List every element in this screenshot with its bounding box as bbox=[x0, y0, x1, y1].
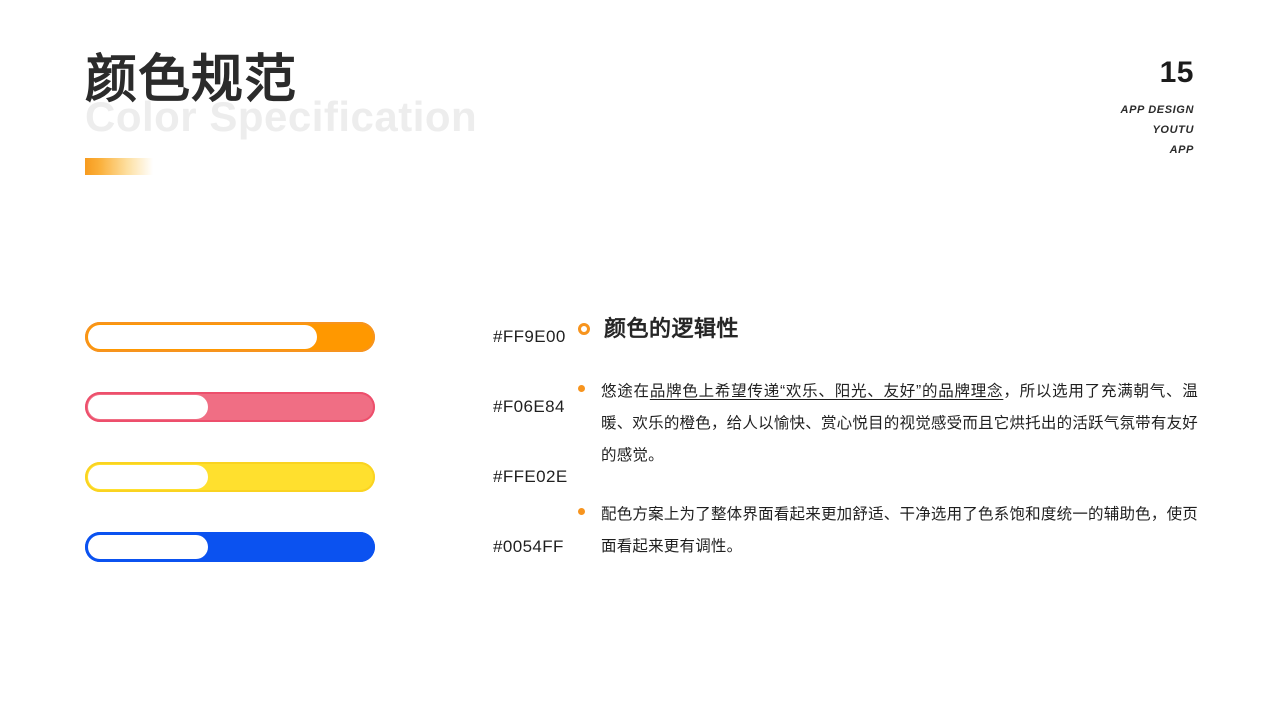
meta-line-app: APP bbox=[1121, 140, 1194, 160]
content-heading: 颜色的逻辑性 bbox=[578, 318, 1198, 340]
page-title: 颜色规范 bbox=[85, 52, 297, 109]
color-swatch-list: #FF9E00#F06E84#FFE02E#0054FF bbox=[85, 322, 568, 602]
paragraph-item: 悠途在品牌色上希望传递“欢乐、阳光、友好”的品牌理念，所以选用了充满朝气、温暖、… bbox=[578, 376, 1198, 471]
meta-line-youtu: YOUTU bbox=[1121, 120, 1194, 140]
color-bar-inner-fill bbox=[88, 535, 208, 559]
dot-bullet-icon bbox=[578, 385, 585, 392]
meta-lines: APP DESIGN YOUTU APP bbox=[1121, 100, 1194, 160]
color-bar-inner-fill bbox=[88, 395, 208, 419]
color-hex-label: #FFE02E bbox=[493, 467, 568, 487]
color-swatch-row: #0054FF bbox=[85, 532, 568, 562]
color-hex-label: #FF9E00 bbox=[493, 327, 566, 347]
color-bar[interactable] bbox=[85, 322, 375, 352]
color-bar[interactable] bbox=[85, 532, 375, 562]
color-bar-inner-fill bbox=[88, 325, 317, 349]
paragraph-text: 悠途在品牌色上希望传递“欢乐、阳光、友好”的品牌理念，所以选用了充满朝气、温暖、… bbox=[601, 376, 1198, 471]
color-swatch-row: #FF9E00 bbox=[85, 322, 568, 352]
paragraph-lead: 悠途在 bbox=[601, 383, 650, 400]
slide-meta: 15 APP DESIGN YOUTU APP bbox=[1121, 58, 1194, 160]
color-swatch-row: #FFE02E bbox=[85, 462, 568, 492]
dot-bullet-icon bbox=[578, 508, 585, 515]
page-number: 15 bbox=[1121, 58, 1194, 88]
paragraph-item: 配色方案上为了整体界面看起来更加舒适、干净选用了色系饱和度统一的辅助色，使页面看… bbox=[578, 499, 1198, 563]
title-gradient-rule bbox=[85, 158, 153, 175]
color-swatch-row: #F06E84 bbox=[85, 392, 568, 422]
paragraph-rest: 配色方案上为了整体界面看起来更加舒适、干净选用了色系饱和度统一的辅助色，使页面看… bbox=[601, 506, 1198, 555]
content-heading-label: 颜色的逻辑性 bbox=[604, 318, 739, 340]
ring-bullet-icon bbox=[578, 323, 590, 335]
paragraph-text: 配色方案上为了整体界面看起来更加舒适、干净选用了色系饱和度统一的辅助色，使页面看… bbox=[601, 499, 1198, 563]
slide-root: Color Specification 颜色规范 15 APP DESIGN Y… bbox=[0, 0, 1280, 720]
color-bar[interactable] bbox=[85, 392, 375, 422]
color-bar[interactable] bbox=[85, 462, 375, 492]
content-panel: 颜色的逻辑性 悠途在品牌色上希望传递“欢乐、阳光、友好”的品牌理念，所以选用了充… bbox=[578, 318, 1198, 591]
color-bar-inner-fill bbox=[88, 465, 208, 489]
paragraph-list: 悠途在品牌色上希望传递“欢乐、阳光、友好”的品牌理念，所以选用了充满朝气、温暖、… bbox=[578, 376, 1198, 563]
color-hex-label: #0054FF bbox=[493, 537, 564, 557]
paragraph-underlined-phrase: 品牌色上希望传递“欢乐、阳光、友好”的品牌理念 bbox=[650, 383, 1004, 400]
meta-line-app-design: APP DESIGN bbox=[1121, 100, 1194, 120]
header-title-block: Color Specification 颜色规范 bbox=[85, 52, 685, 182]
color-hex-label: #F06E84 bbox=[493, 397, 565, 417]
